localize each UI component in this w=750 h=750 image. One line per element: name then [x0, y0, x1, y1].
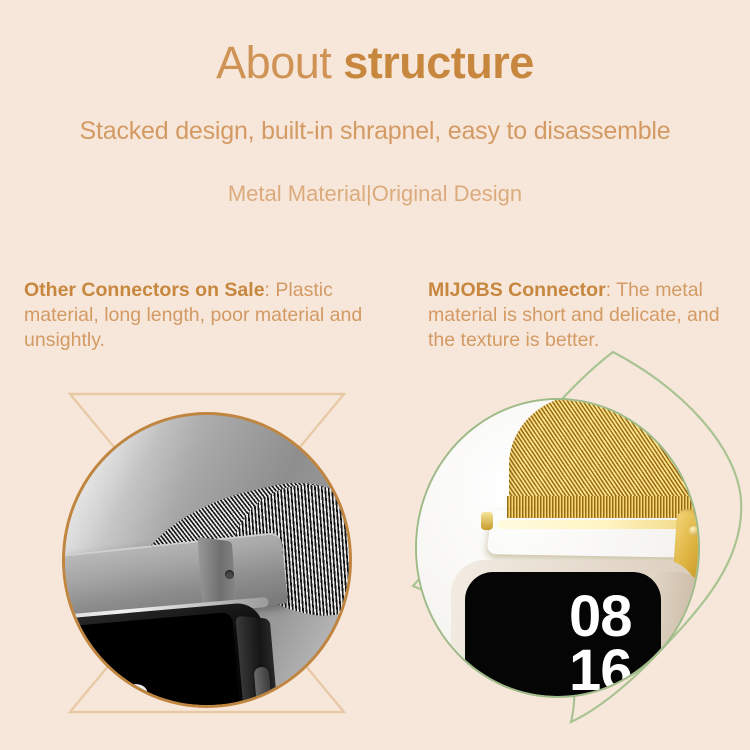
- right-watch-time: 08 16: [569, 590, 632, 698]
- right-product-photo: 08 16: [415, 398, 700, 698]
- page-title: About structure: [0, 38, 750, 88]
- header-block: About structure Stacked design, built-in…: [0, 0, 750, 235]
- left-watch-side-button: [254, 666, 272, 701]
- right-watch-time-minutes: 16: [569, 644, 632, 698]
- silver-connector-pin: [225, 570, 234, 579]
- right-column-lead-label: MIJOBS Connector: [428, 279, 606, 301]
- right-column-description: MIJOBS Connector: The metal material is …: [428, 278, 738, 353]
- left-column-lead-label: Other Connectors on Sale: [24, 279, 265, 301]
- gold-connector-lug-screw: [689, 526, 699, 536]
- right-watch-time-hours: 08: [569, 590, 632, 644]
- gold-connector-highlight: [496, 520, 693, 529]
- gold-connector-spring-bar: [481, 512, 493, 530]
- page-subtitle: Stacked design, built-in shrapnel, easy …: [0, 115, 750, 147]
- page-title-light: About: [216, 37, 343, 88]
- gold-connector-bar: [486, 510, 700, 558]
- left-product-photo: 08: [62, 412, 352, 708]
- page-title-bold: structure: [343, 37, 534, 88]
- left-watch-time: 08: [82, 670, 153, 708]
- page-tagline: Metal Material|Original Design: [0, 180, 750, 208]
- left-column-description: Other Connectors on Sale: Plastic materi…: [24, 278, 364, 353]
- right-column-separator: :: [606, 279, 616, 301]
- right-watch-screen: [465, 572, 661, 698]
- left-column-separator: :: [265, 279, 276, 301]
